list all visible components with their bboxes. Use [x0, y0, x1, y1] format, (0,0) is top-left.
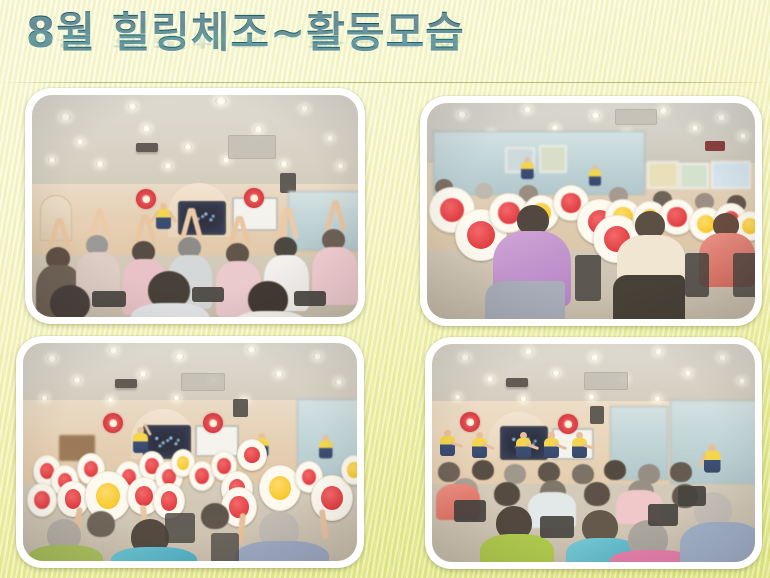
ceiling-light	[142, 125, 151, 132]
ceiling-light	[717, 114, 726, 121]
ceiling-light	[326, 135, 334, 141]
instructor-body	[516, 438, 531, 458]
ceiling-light	[684, 370, 692, 376]
ceiling-light	[48, 157, 56, 163]
ceiling-light	[109, 347, 118, 354]
chair	[454, 500, 486, 522]
wall-speaker	[233, 399, 248, 417]
ceiling-projector	[506, 378, 528, 387]
chair	[648, 504, 678, 526]
instructor-body	[572, 438, 587, 458]
participant-body-foreground	[680, 522, 755, 562]
participant-head	[87, 511, 115, 537]
ceiling-light	[175, 353, 184, 360]
photo-bottom-left[interactable]	[16, 336, 364, 568]
instructor-body	[472, 438, 487, 458]
ceiling-light	[184, 144, 192, 150]
ceiling-light	[254, 126, 263, 133]
participant-head	[538, 462, 560, 482]
ceiling-light	[590, 354, 599, 361]
air-vent	[181, 373, 225, 391]
scene-paddles-front	[427, 103, 755, 319]
photo-bottom-left-image	[23, 343, 357, 561]
ceiling-light	[520, 396, 527, 402]
chair	[211, 533, 239, 561]
participant-head	[201, 503, 229, 529]
participant-body-foreground	[111, 547, 197, 561]
chair	[294, 291, 326, 306]
instructor-body	[319, 440, 333, 458]
participant-body-foreground	[480, 534, 554, 562]
air-vent	[615, 109, 657, 125]
ceiling-light	[691, 125, 699, 131]
instructor-body	[544, 438, 559, 458]
chair	[540, 516, 574, 538]
ceiling-light	[337, 163, 344, 169]
ceiling-light	[300, 105, 309, 112]
scene-paddles-overhead	[23, 343, 357, 561]
wall-speaker	[280, 173, 296, 193]
participant-legs-foreground	[613, 275, 685, 319]
air-vent	[584, 372, 628, 390]
ceiling-light	[738, 378, 746, 384]
wall-clock	[705, 141, 725, 151]
scene-instructors-leading	[432, 344, 755, 562]
ceiling-light	[76, 139, 84, 145]
ceiling-light	[654, 348, 663, 355]
instructor-body	[589, 170, 601, 186]
ceiling-light	[335, 379, 343, 385]
chair	[92, 291, 126, 307]
photo-top-right-image	[427, 103, 755, 319]
ceiling-light	[524, 348, 533, 355]
participant-head	[584, 482, 610, 506]
instructor-body	[704, 451, 721, 473]
participant-head	[670, 462, 692, 482]
wall-speaker	[590, 406, 604, 424]
ceiling-light	[60, 113, 71, 121]
participant-head	[604, 460, 626, 480]
ceiling-light	[457, 111, 467, 118]
exercise-paddle-red	[237, 439, 267, 471]
chair	[192, 287, 224, 302]
ceiling-light	[215, 97, 227, 105]
red-flower-decoration	[460, 412, 480, 432]
red-flower-decoration	[558, 414, 578, 434]
participant-body-foreground	[27, 545, 103, 561]
photo-top-left[interactable]	[25, 88, 365, 324]
ceiling-light	[552, 370, 560, 376]
ceiling-light	[718, 354, 727, 361]
framed-picture	[647, 161, 679, 189]
ceiling-light	[107, 397, 114, 403]
framed-picture	[679, 163, 709, 189]
photo-bottom-right-image	[432, 344, 755, 562]
slide-canvas: 8월 힐링체조~활동모습 8월 힐링체조~활동모습	[0, 0, 770, 578]
red-flower-decoration	[103, 413, 123, 433]
ceiling-light	[173, 395, 180, 401]
chair	[165, 513, 195, 543]
ceiling-light	[588, 394, 595, 400]
ceiling-light	[96, 161, 104, 167]
scene-hall-stretching	[32, 95, 358, 317]
ceiling-light	[164, 163, 172, 169]
ceiling-light	[47, 355, 57, 362]
red-flower-decoration	[244, 188, 264, 208]
instructor-body	[440, 436, 455, 456]
red-flower-decoration	[136, 189, 156, 209]
framed-picture	[711, 161, 751, 189]
participant-head	[475, 183, 493, 199]
instructor-body	[133, 433, 148, 453]
chair	[678, 486, 706, 506]
ceiling-light	[454, 394, 461, 400]
participant-head-foreground	[50, 285, 90, 317]
ceiling-projector	[136, 143, 158, 152]
ceiling-light	[280, 161, 288, 167]
participant-body-foreground	[235, 541, 329, 561]
ceiling-light	[659, 107, 668, 114]
ceiling-light	[139, 371, 147, 377]
ceiling-light	[739, 133, 747, 139]
air-vent	[228, 135, 276, 159]
photo-bottom-right[interactable]	[425, 337, 762, 569]
page-title-reflection: 8월 힐링체조~활동모습	[26, 22, 726, 52]
photo-top-left-image	[32, 95, 358, 317]
ceiling-projector	[115, 379, 137, 388]
participant-head	[504, 464, 526, 484]
title-block: 8월 힐링체조~활동모습 8월 힐링체조~활동모습	[26, 6, 726, 86]
participant-legs-foreground	[485, 281, 565, 319]
exercise-paddle-red	[27, 483, 57, 517]
participant-head	[494, 482, 520, 506]
participant-head	[438, 462, 460, 482]
ceiling-light	[523, 106, 532, 113]
participant-head	[472, 460, 494, 480]
ceiling-light	[275, 371, 283, 377]
ceiling-light	[41, 395, 48, 401]
ceiling-light	[313, 353, 322, 360]
ceiling-light	[654, 396, 661, 402]
ceiling-light	[128, 103, 137, 110]
ceiling-light	[247, 346, 256, 353]
chair	[575, 255, 601, 301]
chair	[733, 253, 755, 297]
red-flower-decoration	[203, 413, 223, 433]
participant-head	[572, 464, 594, 484]
ceiling-light	[73, 377, 81, 383]
ceiling-light	[591, 112, 600, 119]
framed-picture	[539, 145, 567, 173]
photo-top-right[interactable]	[420, 96, 762, 326]
ceiling-light	[486, 376, 494, 382]
instructor-body	[521, 162, 534, 179]
chair	[685, 253, 709, 297]
ceiling-light	[460, 354, 470, 361]
